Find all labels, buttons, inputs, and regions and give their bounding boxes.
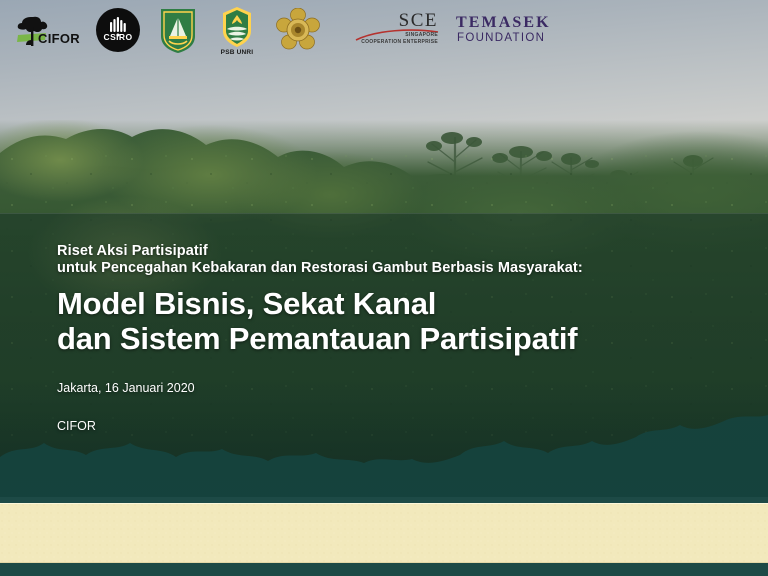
csiro-bars-icon — [96, 8, 140, 52]
subtitle-line-1: Riset Aksi Partisipatif — [57, 243, 717, 260]
place-and-date: Jakarta, 16 Januari 2020 — [57, 380, 717, 397]
cifor-wordmark: CIFOR — [38, 31, 80, 46]
presentation-slide: Riset Aksi Partisipatif untuk Pencegahan… — [0, 0, 768, 576]
partner-logo-row: CIFOR CSIRO — [0, 0, 768, 60]
foundation-wordmark: FOUNDATION — [457, 32, 545, 44]
main-title-line-1: Model Bisnis, Sekat Kanal — [57, 286, 717, 321]
ugm-logo — [276, 8, 320, 52]
unilak-shield-icon — [158, 6, 198, 54]
main-title-line-2: dan Sistem Pemantauan Partisipatif — [57, 321, 717, 356]
psb-unri-logo: PSB UNRI — [216, 5, 258, 55]
unilak-logo — [158, 6, 198, 54]
logo-band-bottom-edge — [0, 563, 768, 576]
ugm-rosette-icon — [276, 8, 320, 52]
psb-unri-emblem-icon — [216, 5, 258, 49]
cifor-logo: CIFOR — [12, 7, 80, 53]
overlay-top-edge — [0, 213, 768, 214]
title-text-block: Riset Aksi Partisipatif untuk Pencegahan… — [57, 243, 717, 433]
cifor-tree-icon — [12, 7, 80, 53]
csiro-logo: CSIRO — [96, 8, 140, 52]
temasek-foundation-logo: TEMASEK FOUNDATION — [456, 12, 562, 48]
temasek-wordmark: TEMASEK — [456, 14, 551, 32]
sce-subtitle: SINGAPORE COOPERATION ENTERPRISE — [361, 32, 438, 46]
subtitle-line-2: untuk Pencegahan Kebakaran dan Restorasi… — [57, 260, 717, 277]
sce-subtitle-line-1: SINGAPORE — [405, 32, 438, 38]
sce-logo: SCE SINGAPORE COOPERATION ENTERPRISE — [354, 10, 440, 50]
csiro-wordmark: CSIRO — [96, 32, 140, 42]
organization-name: CIFOR — [57, 419, 717, 433]
sce-subtitle-line-2: COOPERATION ENTERPRISE — [361, 39, 438, 45]
partner-logo-bar — [0, 503, 768, 563]
psb-unri-wordmark: PSB UNRI — [210, 49, 264, 56]
